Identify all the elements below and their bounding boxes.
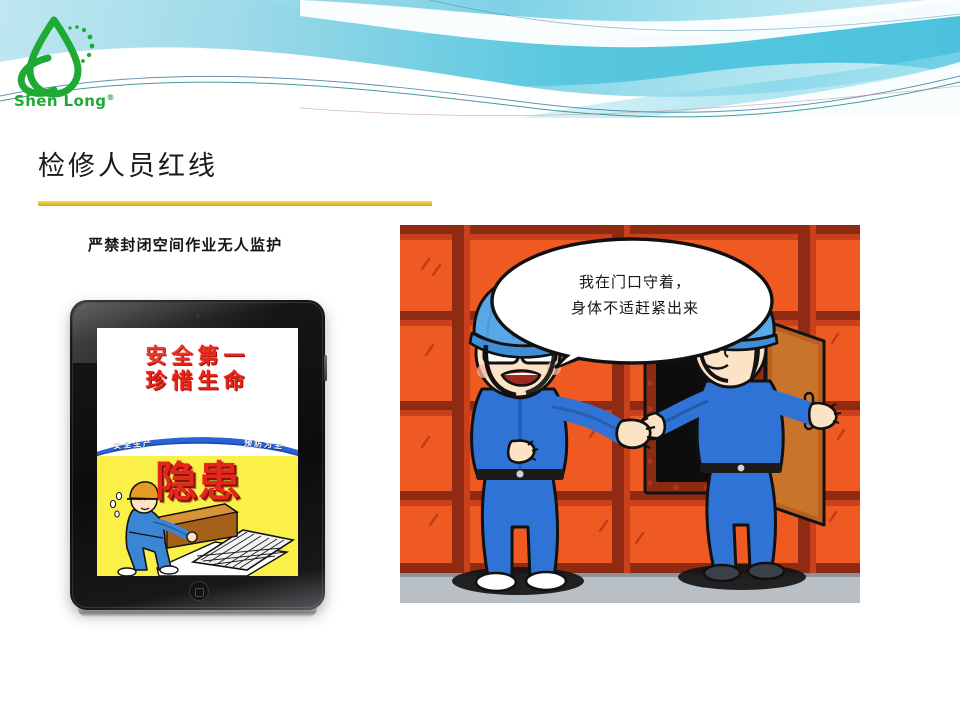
tablet-screen: 安全第一 珍惜生命 安全生产 预防为主 xyxy=(97,328,298,576)
poster-headline-line1: 安全第一 xyxy=(97,344,298,369)
poster-hazard-word: 隐患 xyxy=(155,460,241,504)
logo-wordmark: Shen Long® xyxy=(14,92,110,110)
section-subtitle: 严禁封闭空间作业无人监护 xyxy=(88,234,282,255)
registered-trademark-icon: ® xyxy=(106,93,114,102)
header-wave-graphics xyxy=(0,0,960,118)
tablet-camera-icon xyxy=(195,313,201,319)
confined-space-supervision-cartoon: 我在门口守着， 身体不适赶紧出来 xyxy=(400,225,860,603)
poster-headline: 安全第一 珍惜生命 xyxy=(97,344,298,394)
slide-canvas: Shen Long® 检修人员红线 严禁封闭空间作业无人监护 安全第一 珍惜生命… xyxy=(0,0,960,720)
speech-line-1: 我在门口守着， xyxy=(500,269,770,295)
tablet-device-mockup: 安全第一 珍惜生命 安全生产 预防为主 xyxy=(70,300,325,610)
title-underline-rule xyxy=(38,201,432,206)
speech-bubble-text: 我在门口守着， 身体不适赶紧出来 xyxy=(500,269,770,321)
poster-lower-yellow-area: 隐患 xyxy=(97,456,298,576)
tablet-side-button[interactable] xyxy=(324,355,327,381)
header-wave-banner xyxy=(0,0,960,118)
poster-blue-ribbon-banner: 安全生产 预防为主 xyxy=(97,432,298,458)
speech-line-2: 身体不适赶紧出来 xyxy=(500,295,770,321)
page-title: 检修人员红线 xyxy=(38,152,218,182)
tablet-home-button[interactable] xyxy=(189,581,209,601)
logo-wordmark-text: Shen Long xyxy=(14,92,106,110)
shen-long-logo: Shen Long® xyxy=(8,14,112,110)
poster-headline-line2: 珍惜生命 xyxy=(97,369,298,394)
